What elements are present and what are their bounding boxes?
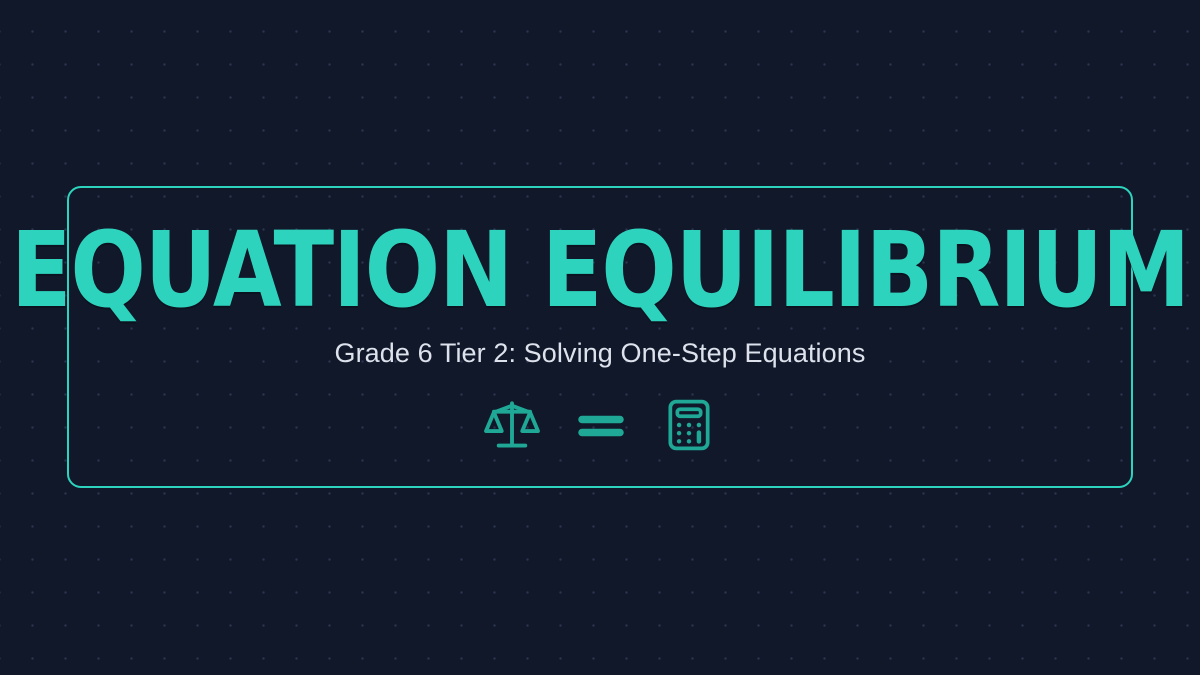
equals-sign-icon bbox=[577, 401, 625, 449]
title-slide: EQUATION EQUILIBRIUM Grade 6 Tier 2: Sol… bbox=[0, 0, 1200, 675]
calculator-icon bbox=[661, 397, 717, 453]
icon-row bbox=[483, 396, 717, 454]
title-card-content: EQUATION EQUILIBRIUM Grade 6 Tier 2: Sol… bbox=[69, 188, 1131, 486]
title-card-frame: EQUATION EQUILIBRIUM Grade 6 Tier 2: Sol… bbox=[67, 186, 1133, 488]
page-subtitle: Grade 6 Tier 2: Solving One-Step Equatio… bbox=[334, 339, 865, 369]
balance-scale-icon bbox=[483, 396, 541, 454]
page-title: EQUATION EQUILIBRIUM bbox=[11, 218, 1189, 322]
